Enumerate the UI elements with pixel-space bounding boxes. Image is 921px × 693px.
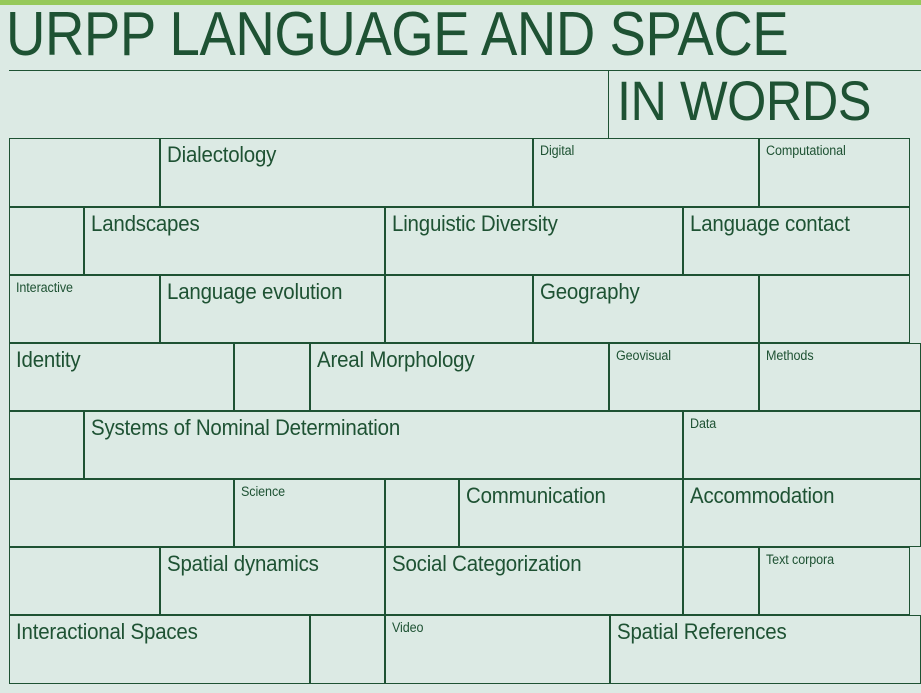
keyword-cell-linguistic-diversity[interactable]: Linguistic Diversity <box>385 207 683 275</box>
keyword-cell-empty[interactable] <box>385 479 459 547</box>
keyword-cell-empty[interactable] <box>385 275 533 343</box>
keyword-label: Text corpora <box>766 553 834 567</box>
keyword-label: Accommodation <box>690 484 834 507</box>
keyword-cell-empty[interactable] <box>9 138 160 207</box>
keyword-cell-language-contact[interactable]: Language contact <box>683 207 910 275</box>
keyword-label: Geovisual <box>616 349 671 363</box>
keyword-cell-methods[interactable]: Methods <box>759 343 921 411</box>
keyword-cell-communication[interactable]: Communication <box>459 479 683 547</box>
keyword-label: Interactive <box>16 281 73 295</box>
keyword-label: Data <box>690 417 716 431</box>
keyword-label: Areal Morphology <box>317 348 474 371</box>
keyword-label: Interactional Spaces <box>16 620 198 643</box>
keyword-cell-identity[interactable]: Identity <box>9 343 234 411</box>
keyword-cell-computational[interactable]: Computational <box>759 138 910 207</box>
keyword-cell-empty[interactable] <box>9 411 84 479</box>
keyword-cell-language-evolution[interactable]: Language evolution <box>160 275 385 343</box>
keyword-cell-empty[interactable] <box>9 479 234 547</box>
keyword-cell-spatial-references[interactable]: Spatial References <box>610 615 921 684</box>
keyword-label: Spatial References <box>617 620 787 643</box>
keyword-label: Communication <box>466 484 606 507</box>
keyword-cell-empty[interactable] <box>759 275 910 343</box>
keyword-cell-empty[interactable] <box>683 547 759 615</box>
keyword-cell-science[interactable]: Science <box>234 479 385 547</box>
page-title-line2: IN WORDS <box>617 73 871 129</box>
keyword-label: Systems of Nominal Determination <box>91 416 400 439</box>
keyword-cell-spatial-dynamics[interactable]: Spatial dynamics <box>160 547 385 615</box>
keyword-label: Social Categorization <box>392 552 581 575</box>
page-title-line2-cell: IN WORDS <box>608 70 921 138</box>
keyword-cell-data[interactable]: Data <box>683 411 921 479</box>
keyword-label: Video <box>392 621 423 635</box>
keyword-label: Language contact <box>690 212 850 235</box>
keyword-cell-social-categorization[interactable]: Social Categorization <box>385 547 683 615</box>
keyword-label: Science <box>241 485 285 499</box>
keyword-cell-text-corpora[interactable]: Text corpora <box>759 547 910 615</box>
keyword-cell-empty[interactable] <box>310 615 385 684</box>
keyword-label: Linguistic Diversity <box>392 212 558 235</box>
keyword-cell-empty[interactable] <box>9 547 160 615</box>
keyword-cell-geovisual[interactable]: Geovisual <box>609 343 759 411</box>
keyword-label: Digital <box>540 144 574 158</box>
keyword-cell-accommodation[interactable]: Accommodation <box>683 479 921 547</box>
keyword-cell-empty[interactable] <box>9 207 84 275</box>
keyword-cell-geography[interactable]: Geography <box>533 275 759 343</box>
keyword-cell-interactive[interactable]: Interactive <box>9 275 160 343</box>
keyword-cell-interactional-spaces[interactable]: Interactional Spaces <box>9 615 310 684</box>
keyword-cell-areal-morphology[interactable]: Areal Morphology <box>310 343 609 411</box>
keyword-label: Computational <box>766 144 846 158</box>
poster-canvas: URPP LANGUAGE AND SPACE IN WORDS Dialect… <box>0 0 921 693</box>
keyword-cell-landscapes[interactable]: Landscapes <box>84 207 385 275</box>
keyword-cell-dialectology[interactable]: Dialectology <box>160 138 533 207</box>
keyword-label: Spatial dynamics <box>167 552 319 575</box>
keyword-cell-digital[interactable]: Digital <box>533 138 759 207</box>
keyword-label: Methods <box>766 349 814 363</box>
keyword-label: Identity <box>16 348 80 371</box>
keyword-label: Language evolution <box>167 280 342 303</box>
keyword-cell-video[interactable]: Video <box>385 615 610 684</box>
title-divider-rule <box>9 70 609 71</box>
keyword-label: Geography <box>540 280 640 303</box>
keyword-cell-empty[interactable] <box>234 343 310 411</box>
keyword-cell-systems-of-nominal-determination[interactable]: Systems of Nominal Determination <box>84 411 683 479</box>
keyword-label: Dialectology <box>167 143 276 166</box>
page-title-line1: URPP LANGUAGE AND SPACE <box>6 6 788 65</box>
keyword-label: Landscapes <box>91 212 199 235</box>
